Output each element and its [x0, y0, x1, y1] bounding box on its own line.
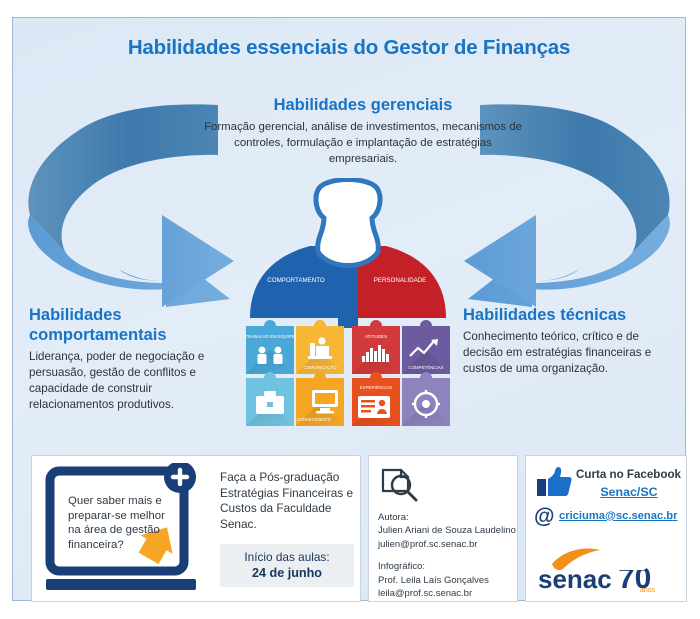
top-body: Formação gerencial, análise de investime…: [203, 119, 523, 168]
infographic-panel: Habilidades essenciais do Gestor de Fina…: [12, 17, 686, 601]
author-label: Autora:: [378, 511, 518, 524]
puzzle-piece-experiencias: EXPERIÊNCIAS: [352, 372, 400, 426]
svg-text:COMPETÊNCIAS: COMPETÊNCIAS: [408, 365, 443, 370]
puzzle-piece-competencias: COMPETÊNCIAS: [402, 320, 450, 374]
puzzle-piece-briefcase: [246, 372, 294, 426]
svg-text:senac: senac: [538, 564, 612, 594]
cta-description: Faça a Pós-graduação Estratégias Finance…: [220, 470, 354, 533]
top-heading: Habilidades gerenciais: [203, 96, 523, 116]
skills-technical-block: Habilidades técnicas Conhecimento teóric…: [463, 306, 675, 377]
credits-card: Autora: Julien Ariani de Souza Laudelino…: [368, 455, 518, 602]
thumbs-up-icon: [536, 466, 572, 498]
top-skill-block: Habilidades gerenciais Formação gerencia…: [203, 96, 523, 167]
svg-text:anos: anos: [640, 587, 656, 594]
right-heading: Habilidades técnicas: [463, 306, 675, 326]
shoulder-label-right: PERSONALIDADE: [374, 277, 427, 284]
left-heading-line2: comportamentais: [29, 326, 229, 346]
puzzle-piece-gear: [402, 372, 450, 426]
infographic-email: leila@prof.sc.senac.br: [378, 587, 518, 600]
start-label: Início das aulas:: [224, 550, 350, 564]
puzzle-piece-conhecimento: CONHECIMENTO: [296, 372, 344, 426]
puzzle-piece-trabalho-em-equipe: TRABALHO EM EQUIPE: [245, 320, 294, 374]
facebook-label: Curta no Facebook: [576, 468, 681, 481]
facebook-handle-link[interactable]: Senac/SC: [576, 485, 682, 499]
right-body: Conhecimento teórico, crítico e de decis…: [463, 329, 675, 377]
puzzle-piece-atitudes: ATITUDES: [352, 320, 400, 374]
left-body: Liderança, poder de negociação e persuas…: [29, 349, 229, 413]
svg-text:ATITUDES: ATITUDES: [365, 334, 387, 339]
puzzle-piece-comunicacao: COMUNICAÇÃO: [296, 320, 344, 374]
shoulder-label-left: COMPORTAMENTO: [267, 277, 325, 284]
svg-text:COMUNICAÇÃO: COMUNICAÇÃO: [303, 365, 337, 370]
author-name: Julien Ariani de Souza Laudelino: [378, 524, 518, 537]
infographic-name: Prof. Leila Laís Gonçalves: [378, 574, 518, 587]
start-date-box: Início das aulas: 24 de junho: [220, 544, 354, 587]
page-title: Habilidades essenciais do Gestor de Fina…: [13, 36, 685, 60]
svg-text:CONHECIMENTO: CONHECIMENTO: [297, 417, 332, 422]
contact-email-link[interactable]: criciuma@sc.senac.br: [559, 510, 678, 522]
cta-text-block: Faça a Pós-graduação Estratégias Finance…: [220, 470, 354, 587]
senac-70-logos: senac 70 anos: [534, 542, 680, 594]
skills-behavioral-block: Habilidades comportamentais Liderança, p…: [29, 306, 229, 413]
svg-text:TRABALHO EM EQUIPE: TRABALHO EM EQUIPE: [245, 334, 294, 339]
left-heading-line1: Habilidades: [29, 306, 229, 326]
document-search-icon: [379, 465, 421, 505]
social-card: Curta no Facebook Senac/SC @ criciuma@sc…: [525, 455, 687, 602]
manager-figure-illustration: COMPORTAMENTO PERSONALIDADE TRABALHO EM …: [240, 178, 456, 438]
at-symbol-icon: @: [534, 506, 554, 527]
start-date: 24 de junho: [224, 566, 350, 580]
cta-card[interactable]: Quer saber mais e preparar-se melhor na …: [31, 455, 361, 602]
author-email: julien@prof.sc.senac.br: [378, 538, 518, 551]
laptop-question-text: Quer saber mais e preparar-se melhor na …: [68, 494, 178, 552]
svg-text:EXPERIÊNCIAS: EXPERIÊNCIAS: [360, 385, 393, 390]
infographic-label: Infográfico:: [378, 560, 518, 573]
